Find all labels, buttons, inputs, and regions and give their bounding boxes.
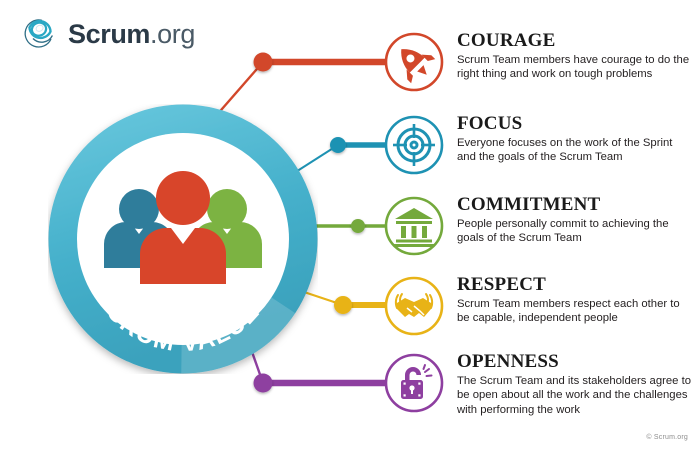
value-row-respect: RESPECT Scrum Team members respect each … xyxy=(383,275,693,341)
value-description-respect: Scrum Team members respect each other to… xyxy=(457,297,693,326)
value-description-commitment: People personally commit to achieving th… xyxy=(457,217,693,246)
copyright-notice: © Scrum.org xyxy=(646,434,688,441)
value-copy-openness: OPENNESS The Scrum Team and its stakehol… xyxy=(457,352,693,417)
value-title-commitment: COMMITMENT xyxy=(457,195,693,214)
scrum-values-infographic: Scrum.org xyxy=(0,0,700,454)
value-copy-commitment: COMMITMENT People personally commit to a… xyxy=(457,195,693,246)
value-description-openness: The Scrum Team and its stakeholders agre… xyxy=(457,374,693,417)
scrum-values-emblem: SCRUM VALUES xyxy=(48,104,318,374)
open-padlock-icon xyxy=(383,352,445,414)
handshake-icon xyxy=(383,275,445,337)
value-row-openness: OPENNESS The Scrum Team and its stakehol… xyxy=(383,352,693,418)
value-title-courage: COURAGE xyxy=(457,31,693,50)
rocket-icon xyxy=(383,31,445,93)
target-crosshair-icon xyxy=(383,114,445,176)
value-row-focus: FOCUS Everyone focuses on the work of th… xyxy=(383,114,693,180)
bank-building-icon xyxy=(383,195,445,257)
value-row-courage: COURAGE Scrum Team members have courage … xyxy=(383,31,693,97)
value-row-commitment: COMMITMENT People personally commit to a… xyxy=(383,195,693,261)
value-description-focus: Everyone focuses on the work of the Spri… xyxy=(457,136,693,165)
value-title-focus: FOCUS xyxy=(457,114,693,133)
connector-commitment xyxy=(308,219,394,233)
value-copy-respect: RESPECT Scrum Team members respect each … xyxy=(457,275,693,326)
value-title-respect: RESPECT xyxy=(457,275,693,294)
value-title-openness: OPENNESS xyxy=(457,352,693,371)
value-copy-courage: COURAGE Scrum Team members have courage … xyxy=(457,31,693,82)
value-description-courage: Scrum Team members have courage to do th… xyxy=(457,53,693,82)
value-copy-focus: FOCUS Everyone focuses on the work of th… xyxy=(457,114,693,165)
